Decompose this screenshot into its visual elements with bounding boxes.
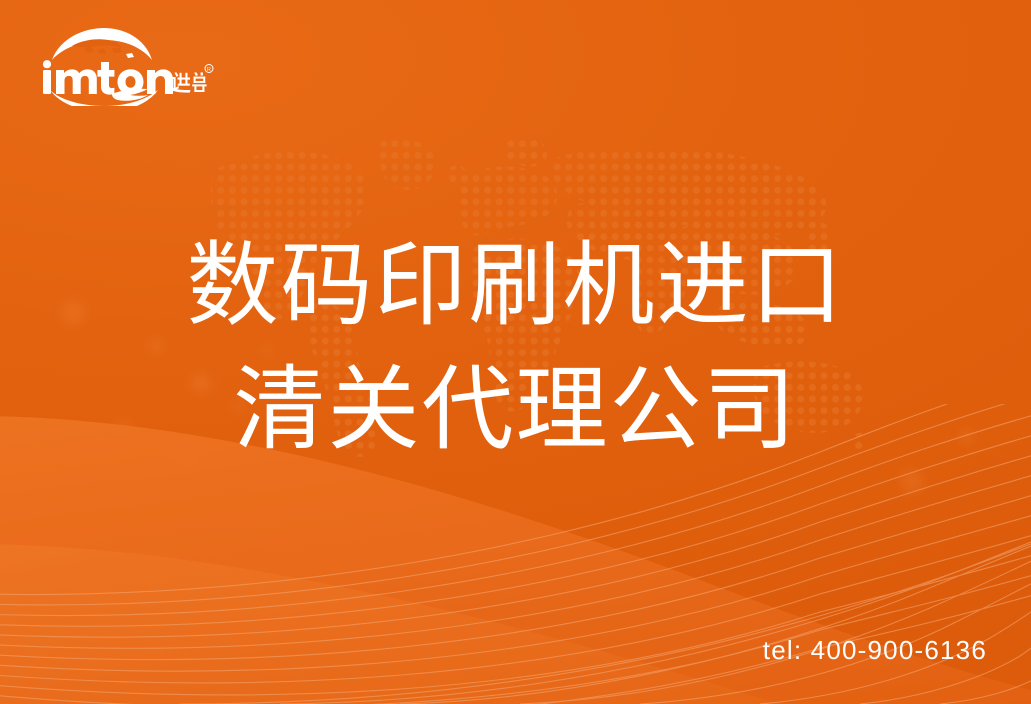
svg-text:R: R: [207, 67, 211, 73]
brand-logo-svg: R: [38, 26, 214, 106]
contact-phone[interactable]: tel: 400-900-6136: [763, 635, 987, 666]
brand-logo[interactable]: R: [38, 26, 214, 106]
headline: 数码印刷机进口 清关代理公司: [0, 224, 1031, 472]
headline-line-1: 数码印刷机进口: [0, 224, 1031, 348]
globe-arc-icon: [52, 28, 152, 60]
wordmark-chinese: [172, 72, 206, 92]
registered-trademark-icon: R: [205, 65, 213, 74]
promo-banner: R 数码印刷机进口 清关代理公司 tel: 400-900-6136: [0, 0, 1031, 704]
wordmark-imton: [43, 60, 173, 94]
headline-line-2: 清关代理公司: [0, 348, 1031, 472]
